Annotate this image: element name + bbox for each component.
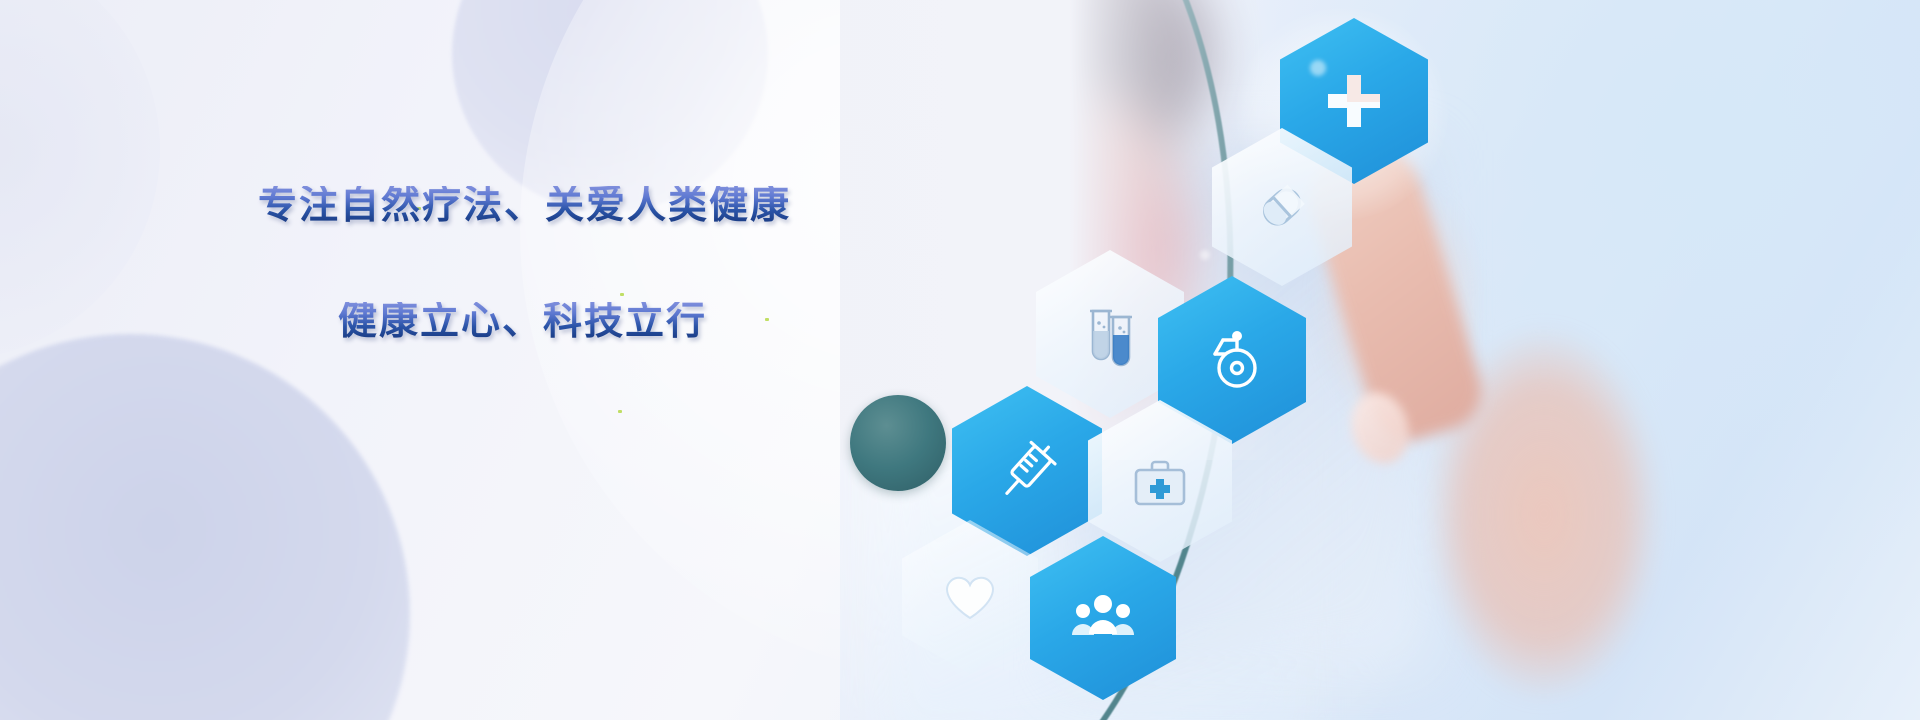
decorative-circle-top xyxy=(452,0,768,212)
hero-banner: 专注自然疗法、关爱人类健康 健康立心、科技立行 xyxy=(0,0,1920,720)
green-speck xyxy=(618,410,622,413)
headline-line-2: 健康立心、科技立行 xyxy=(338,302,898,341)
decorative-circle-left xyxy=(0,0,160,360)
headline-block: 专注自然疗法、关爱人类健康 健康立心、科技立行 xyxy=(258,186,898,341)
headline-line-1: 专注自然疗法、关爱人类健康 xyxy=(258,186,898,225)
teal-arc-endpoint-dot xyxy=(850,395,946,491)
sparkle-dot xyxy=(1310,60,1326,76)
decorative-circle-bottom xyxy=(0,334,410,720)
sparkle-dot xyxy=(1200,250,1210,260)
hero-photo xyxy=(840,0,1920,720)
